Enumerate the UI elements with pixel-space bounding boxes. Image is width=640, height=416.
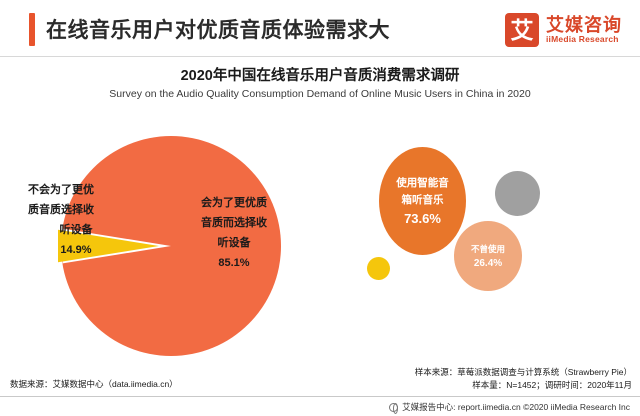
- infographic-page: 在线音乐用户对优质音质体验需求大 艾 艾媒咨询 iiMedia Research…: [0, 0, 640, 416]
- bubble-decor-gray: [495, 171, 540, 216]
- pie-label-minor-line2: 质音质选择收: [28, 200, 148, 220]
- chart-subtitle: Survey on the Audio Quality Consumption …: [0, 88, 640, 100]
- bubble-main-line1: 使用智能音: [396, 175, 449, 192]
- page-header: 在线音乐用户对优质音质体验需求大 艾 艾媒咨询 iiMedia Research: [0, 0, 640, 58]
- pie-value-major: 85.1%: [176, 253, 292, 273]
- globe-icon: [389, 403, 398, 412]
- pie-label-minor: 不会为了更优 质音质选择收 听设备 14.9%: [28, 180, 148, 260]
- sample-source-note: 样本来源：草莓派数据调查与计算系统（Strawberry Pie） 样本量：N=…: [415, 366, 632, 392]
- header-divider: [0, 56, 640, 57]
- bubble-decor-yellow: [367, 257, 390, 280]
- footer-credit: 艾媒报告中心: report.iimedia.cn ©2020 iiMedia …: [389, 401, 630, 413]
- logo-mark-icon: 艾: [505, 13, 539, 47]
- title-accent-bar: [29, 13, 35, 46]
- data-source-note: 数据来源：艾媒数据中心（data.iimedia.cn）: [10, 378, 178, 390]
- chart-title: 2020年中国在线音乐用户音质消费需求调研: [0, 64, 640, 85]
- bubble-sub-line1: 不曾使用: [471, 242, 505, 256]
- bubble-smart-speaker: 使用智能音 箱听音乐 73.6%: [379, 147, 466, 255]
- brand-logo: 艾 艾媒咨询 iiMedia Research: [505, 13, 622, 47]
- bubble-main-line2: 箱听音乐: [402, 192, 444, 209]
- bubble-never-used: 不曾使用 26.4%: [454, 221, 522, 291]
- pie-label-major: 会为了更优质 音质而选择收 听设备 85.1%: [176, 193, 292, 273]
- bubble-main-value: 73.6%: [404, 210, 441, 227]
- logo-text: 艾媒咨询 iiMedia Research: [546, 16, 622, 44]
- pie-label-major-line3: 听设备: [176, 233, 292, 253]
- pie-label-minor-line1: 不会为了更优: [28, 180, 148, 200]
- bubble-sub-value: 26.4%: [474, 257, 502, 271]
- pie-label-major-line1: 会为了更优质: [176, 193, 292, 213]
- logo-name-cn: 艾媒咨询: [546, 16, 622, 35]
- pie-label-minor-line3: 听设备: [28, 220, 148, 240]
- sample-source-line: 样本来源：草莓派数据调查与计算系统（Strawberry Pie）: [415, 366, 632, 379]
- footer-credit-text: 艾媒报告中心: report.iimedia.cn ©2020 iiMedia …: [402, 401, 630, 413]
- pie-value-minor: 14.9%: [28, 240, 148, 260]
- sample-size-line: 样本量：N=1452；调研时间：2020年11月: [415, 379, 632, 392]
- page-title: 在线音乐用户对优质音质体验需求大: [46, 14, 390, 44]
- pie-label-major-line2: 音质而选择收: [176, 213, 292, 233]
- logo-name-en: iiMedia Research: [546, 35, 622, 44]
